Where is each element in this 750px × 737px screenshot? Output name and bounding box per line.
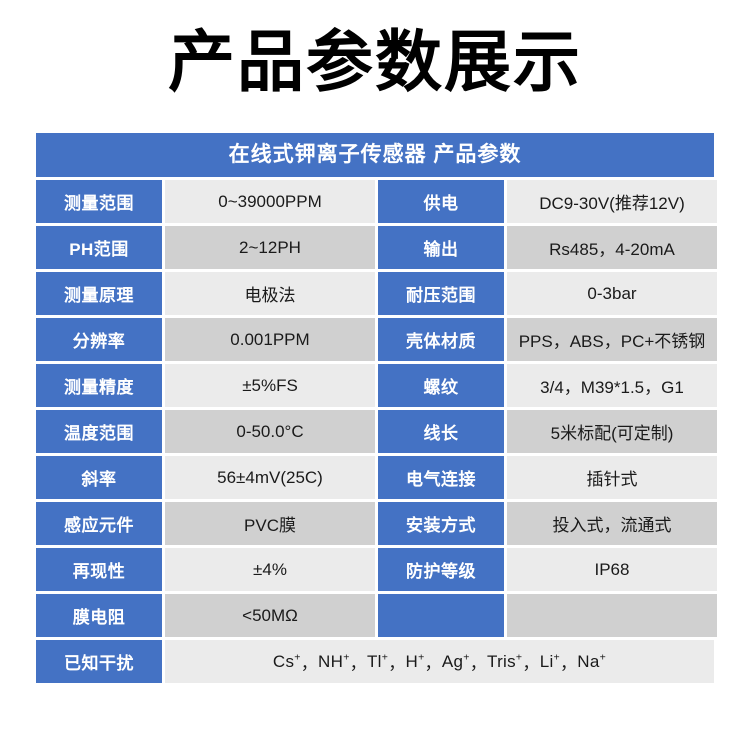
row-label-left: 温度范围 (36, 410, 162, 453)
row-label-right: 线长 (378, 410, 504, 453)
table-row: 分辨率0.001PPM壳体材质PPS，ABS，PC+不锈钢 (36, 318, 714, 361)
ion-token: Cs+ (273, 652, 301, 672)
row-label-right: 耐压范围 (378, 272, 504, 315)
row-value-interference: Cs+，NH+，Tl+，H+，Ag+，Tris+，Li+，Na+ (165, 640, 714, 683)
ion-token: H+ (406, 652, 425, 672)
table-row: 斜率56±4mV(25C)电气连接插针式 (36, 456, 714, 499)
row-value-left: 0~39000PPM (165, 180, 375, 223)
table-header-title: 在线式钾离子传感器 产品参数 (36, 133, 714, 177)
row-value-right: PPS，ABS，PC+不锈钢 (507, 318, 717, 361)
row-label-right: 输出 (378, 226, 504, 269)
row-label-left: 测量精度 (36, 364, 162, 407)
page-title: 产品参数展示 (0, 22, 750, 102)
table-row: 测量原理电极法耐压范围0-3bar (36, 272, 714, 315)
row-value-right: 投入式，流通式 (507, 502, 717, 545)
table-row: 测量精度±5%FS螺纹3/4，M39*1.5，G1 (36, 364, 714, 407)
ion-token: Li+ (540, 652, 560, 672)
row-value-left: PVC膜 (165, 502, 375, 545)
row-value-left: ±4% (165, 548, 375, 591)
row-value-left: 0.001PPM (165, 318, 375, 361)
table-row: 感应元件PVC膜安装方式投入式，流通式 (36, 502, 714, 545)
row-label-left: 测量原理 (36, 272, 162, 315)
row-label-right: 防护等级 (378, 548, 504, 591)
row-value-left: 电极法 (165, 272, 375, 315)
row-value-right: 插针式 (507, 456, 717, 499)
row-label-right: 安装方式 (378, 502, 504, 545)
table-row: PH范围2~12PH输出Rs485，4-20mA (36, 226, 714, 269)
row-value-left: 56±4mV(25C) (165, 456, 375, 499)
row-label-right: 壳体材质 (378, 318, 504, 361)
row-label-left: 斜率 (36, 456, 162, 499)
product-spec-page: 产品参数展示 在线式钾离子传感器 产品参数 测量范围0~39000PPM供电DC… (0, 0, 750, 737)
row-value-right: 5米标配(可定制) (507, 410, 717, 453)
row-label-left: 测量范围 (36, 180, 162, 223)
table-row: 测量范围0~39000PPM供电DC9-30V(推荐12V) (36, 180, 714, 223)
spec-table: 在线式钾离子传感器 产品参数 测量范围0~39000PPM供电DC9-30V(推… (36, 133, 714, 683)
row-label-right: 电气连接 (378, 456, 504, 499)
ion-token: Na+ (577, 652, 606, 672)
table-row-interference: 已知干扰Cs+，NH+，Tl+，H+，Ag+，Tris+，Li+，Na+ (36, 640, 714, 683)
ion-token: Tl+ (367, 652, 388, 672)
table-row: 温度范围0-50.0°C线长5米标配(可定制) (36, 410, 714, 453)
row-label-left: 再现性 (36, 548, 162, 591)
table-row: 再现性±4%防护等级IP68 (36, 548, 714, 591)
row-value-left: <50MΩ (165, 594, 375, 637)
row-value-right: IP68 (507, 548, 717, 591)
row-label-left: 感应元件 (36, 502, 162, 545)
row-value-left: 0-50.0°C (165, 410, 375, 453)
row-value-left: ±5%FS (165, 364, 375, 407)
row-value-right: 0-3bar (507, 272, 717, 315)
table-body: 测量范围0~39000PPM供电DC9-30V(推荐12V)PH范围2~12PH… (36, 180, 714, 683)
ion-token: Ag+ (442, 652, 470, 672)
table-row: 膜电阻<50MΩ (36, 594, 714, 637)
row-label-left: 膜电阻 (36, 594, 162, 637)
row-value-right: DC9-30V(推荐12V) (507, 180, 717, 223)
ion-token: NH+ (318, 652, 350, 672)
row-value-left: 2~12PH (165, 226, 375, 269)
ion-token: Tris+ (487, 652, 522, 672)
row-label-right: 螺纹 (378, 364, 504, 407)
row-label-left: PH范围 (36, 226, 162, 269)
row-value-right (507, 594, 717, 637)
row-label-right (378, 594, 504, 637)
row-label-right: 供电 (378, 180, 504, 223)
row-label-interference: 已知干扰 (36, 640, 162, 683)
row-value-right: 3/4，M39*1.5，G1 (507, 364, 717, 407)
row-value-right: Rs485，4-20mA (507, 226, 717, 269)
row-label-left: 分辨率 (36, 318, 162, 361)
